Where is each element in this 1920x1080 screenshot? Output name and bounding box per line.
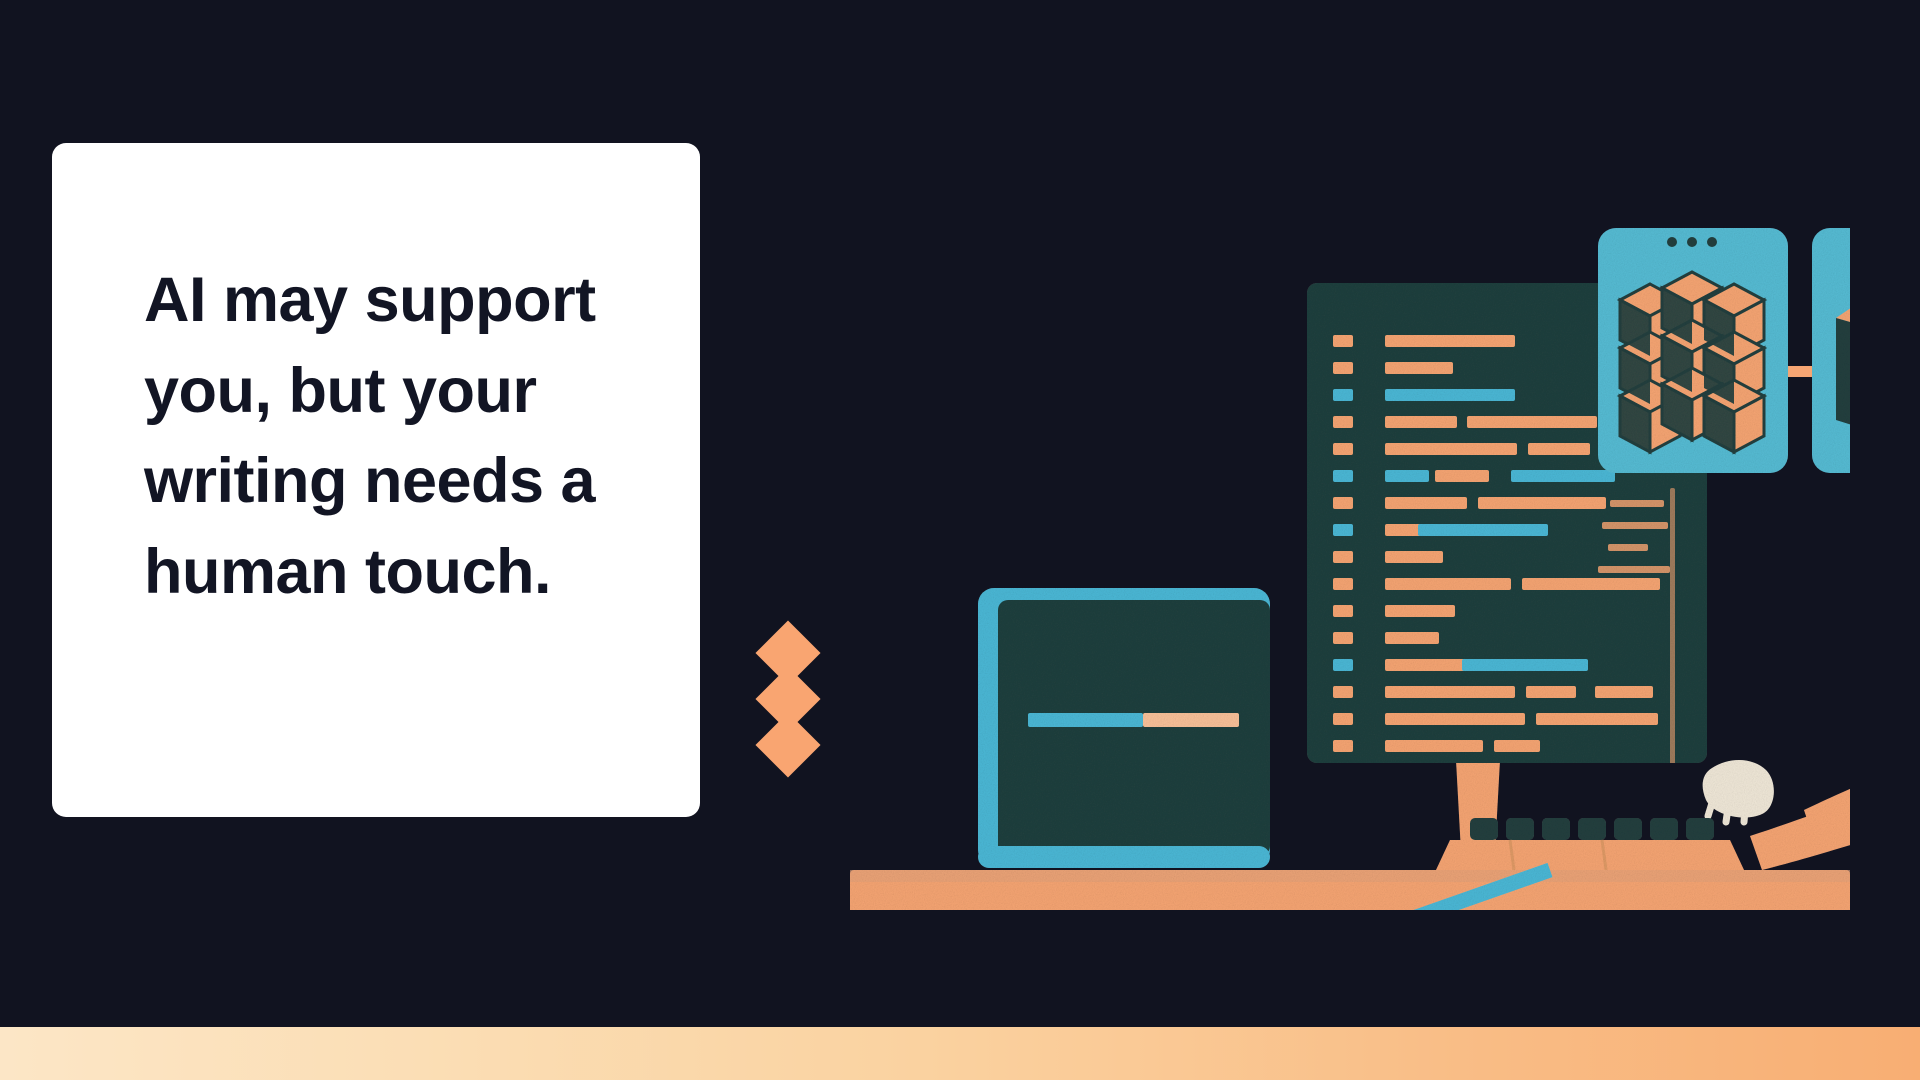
laptop-progress-teal: [1028, 713, 1143, 727]
bitcoin-block-card: ₿: [1812, 228, 1850, 473]
laptop: [978, 588, 1270, 868]
diamond-divider: [757, 630, 819, 770]
developer-at-desk-illustration: ₿: [850, 170, 1850, 910]
slide-canvas: AI may support you, but your writing nee…: [0, 0, 1920, 1080]
laptop-progress-orange: [1143, 713, 1239, 727]
quote-text: AI may support you, but your writing nee…: [144, 255, 644, 618]
blockchain-cube-grid-card: [1598, 228, 1788, 473]
keyboard: [1436, 818, 1744, 870]
diamond-icon: [755, 712, 820, 777]
card-window-dots: [1667, 237, 1717, 247]
cube-grid-icon: [1620, 272, 1764, 452]
quote-card: AI may support you, but your writing nee…: [52, 143, 700, 817]
bottom-gradient-bar: [0, 1027, 1920, 1080]
